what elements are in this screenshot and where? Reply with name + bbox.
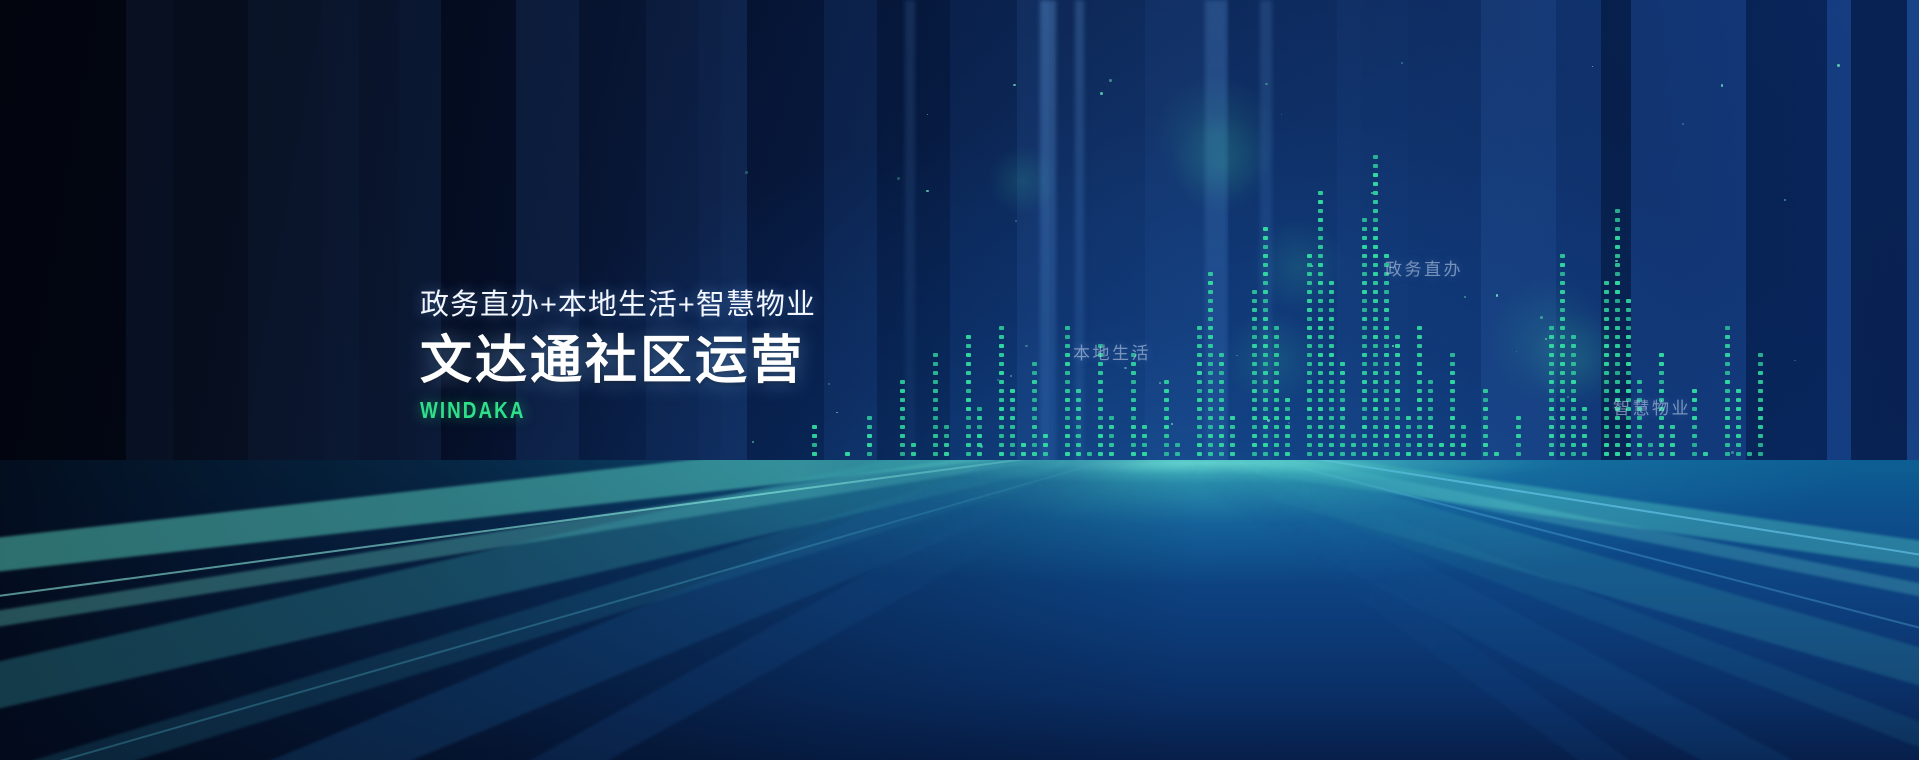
skyline-dot: [1395, 353, 1400, 357]
skyline-dot: [1285, 425, 1290, 429]
skyline-dot: [812, 452, 817, 456]
skyline-dot: [1131, 452, 1136, 456]
skyline-dot: [1615, 263, 1620, 267]
skyline-dot: [1252, 353, 1257, 357]
skyline-dot: [1692, 416, 1697, 420]
skyline-dot: [1560, 416, 1565, 420]
skyline-dot: [1340, 416, 1345, 420]
skyline-dot: [1329, 407, 1334, 411]
skyline-dot: [1318, 443, 1323, 447]
skyline-label-2: 本地生活: [1073, 339, 1151, 364]
skyline-dot: [1615, 371, 1620, 375]
skyline-dot: [1318, 353, 1323, 357]
skyline-dot: [1560, 263, 1565, 267]
skyline-dot: [1758, 389, 1763, 393]
skyline-dot: [1604, 380, 1609, 384]
skyline-dot: [1549, 344, 1554, 348]
skyline-dot: [1208, 326, 1213, 330]
skyline-dot: [1010, 443, 1015, 447]
skyline-dot: [1626, 380, 1631, 384]
skyline-dot: [1373, 362, 1378, 366]
skyline-dot: [1208, 398, 1213, 402]
skyline-dot: [911, 452, 916, 456]
skyline-dot: [1340, 443, 1345, 447]
skyline-dot: [1395, 398, 1400, 402]
skyline-dot: [1560, 335, 1565, 339]
skyline-dot: [966, 389, 971, 393]
skyline-dot: [1362, 371, 1367, 375]
skyline-dot: [1340, 434, 1345, 438]
skyline-dot: [845, 452, 850, 456]
skyline-dot: [867, 443, 872, 447]
skyline-dot: [1373, 227, 1378, 231]
skyline-dot: [1659, 380, 1664, 384]
skyline-dot: [1219, 407, 1224, 411]
skyline-dot: [1274, 326, 1279, 330]
skyline-dot: [1131, 434, 1136, 438]
skyline-dot: [1098, 434, 1103, 438]
skyline-dot: [1340, 362, 1345, 366]
skyline-dot: [1329, 326, 1334, 330]
skyline-dot: [1450, 416, 1455, 420]
skyline-dot: [1615, 299, 1620, 303]
skyline-dot: [1604, 398, 1609, 402]
skyline-dot: [1131, 416, 1136, 420]
skyline-dot: [1604, 281, 1609, 285]
skyline-dot: [1010, 389, 1015, 393]
skyline-dot: [1406, 452, 1411, 456]
skyline-dot: [1076, 434, 1081, 438]
skyline-dot: [1384, 434, 1389, 438]
skyline-dot: [1604, 443, 1609, 447]
skyline-dot: [1373, 155, 1378, 159]
skyline-dot: [1274, 434, 1279, 438]
skyline-dot: [1373, 434, 1378, 438]
skyline-dot: [1483, 425, 1488, 429]
skyline-dot: [1373, 443, 1378, 447]
skyline-dot: [1725, 362, 1730, 366]
skyline-dot: [1571, 443, 1576, 447]
skyline-dot: [1263, 236, 1268, 240]
skyline-dot: [1417, 362, 1422, 366]
skyline-dot: [1065, 389, 1070, 393]
skyline-dot: [1373, 236, 1378, 240]
skyline-dot: [1065, 380, 1070, 384]
skyline-dot: [1417, 407, 1422, 411]
skyline-dot: [1307, 335, 1312, 339]
skyline-dot: [1307, 272, 1312, 276]
skyline-dot: [1736, 398, 1741, 402]
skyline-dot: [1692, 398, 1697, 402]
skyline-dot: [1417, 371, 1422, 375]
skyline-dot: [1362, 227, 1367, 231]
skyline-dot: [1208, 335, 1213, 339]
skyline-dot: [1692, 425, 1697, 429]
skyline-dot: [1351, 452, 1356, 456]
skyline-dot: [1560, 398, 1565, 402]
skyline-dot: [1747, 452, 1752, 456]
skyline-dot: [1417, 326, 1422, 330]
skyline-dot: [1571, 371, 1576, 375]
skyline-dot: [966, 416, 971, 420]
skyline-dot: [1384, 389, 1389, 393]
skyline-dot: [1252, 407, 1257, 411]
skyline-dot: [1604, 317, 1609, 321]
skyline-dot: [1329, 416, 1334, 420]
skyline-dot: [1087, 452, 1092, 456]
skyline-dot: [1758, 398, 1763, 402]
skyline-dot: [1032, 398, 1037, 402]
skyline-dot: [1219, 425, 1224, 429]
skyline-dot: [1318, 362, 1323, 366]
skyline-dot: [1615, 245, 1620, 249]
skyline-dot: [1252, 308, 1257, 312]
skyline-dot: [1659, 425, 1664, 429]
skyline-dot: [1362, 218, 1367, 222]
skyline-dot: [1021, 452, 1026, 456]
skyline-dot: [1340, 371, 1345, 375]
skyline-dot: [1230, 443, 1235, 447]
skyline-dot: [1549, 326, 1554, 330]
skyline-dot: [1516, 416, 1521, 420]
skyline-dot: [1384, 335, 1389, 339]
skyline-dot: [1252, 434, 1257, 438]
skyline-dot: [1318, 380, 1323, 384]
skyline-dot: [977, 443, 982, 447]
skyline-dot: [1725, 443, 1730, 447]
skyline-dot: [1384, 362, 1389, 366]
skyline-dot: [1329, 398, 1334, 402]
skyline-dot: [1065, 371, 1070, 375]
skyline-dot: [1010, 398, 1015, 402]
skyline-dot: [1065, 335, 1070, 339]
skyline-dot: [900, 425, 905, 429]
skyline-dot: [1615, 425, 1620, 429]
skyline-dot: [1197, 389, 1202, 393]
skyline-dot: [1307, 398, 1312, 402]
skyline-dot: [1692, 434, 1697, 438]
skyline-dot: [933, 443, 938, 447]
skyline-dot: [1318, 209, 1323, 213]
skyline-dot: [1208, 317, 1213, 321]
skyline-dot: [1219, 371, 1224, 375]
skyline-dot: [1318, 389, 1323, 393]
skyline-dot: [1373, 389, 1378, 393]
skyline-dot: [1670, 443, 1675, 447]
skyline-dot: [1758, 434, 1763, 438]
skyline-dot: [1615, 218, 1620, 222]
skyline-dot: [1362, 380, 1367, 384]
skyline-dot: [1098, 443, 1103, 447]
skyline-dot: [1384, 299, 1389, 303]
headline-block: 政务直办+本地生活+智慧物业 文达通社区运营 WINDAKA: [420, 290, 816, 422]
skyline-dot: [1043, 443, 1048, 447]
skyline-dot: [1274, 407, 1279, 411]
skyline-dot: [1560, 353, 1565, 357]
skyline-dot: [1197, 398, 1202, 402]
skyline-dot: [1659, 452, 1664, 456]
skyline-dot: [933, 353, 938, 357]
skyline-dot: [1604, 416, 1609, 420]
skyline-dot: [1406, 443, 1411, 447]
skyline-dot: [1263, 326, 1268, 330]
skyline-dot: [1461, 425, 1466, 429]
skyline-dot: [1329, 434, 1334, 438]
skyline-dot: [1758, 452, 1763, 456]
skyline-dot: [1032, 443, 1037, 447]
skyline-dot: [1626, 425, 1631, 429]
skyline-dot: [1285, 434, 1290, 438]
skyline-dot: [1560, 407, 1565, 411]
skyline-dot: [1362, 353, 1367, 357]
skyline-dot: [1692, 407, 1697, 411]
skyline-dot: [1373, 380, 1378, 384]
skyline-dot: [1659, 353, 1664, 357]
skyline-dot: [1406, 425, 1411, 429]
skyline-dot: [1516, 434, 1521, 438]
skyline-dot: [1615, 290, 1620, 294]
skyline-dot: [977, 425, 982, 429]
skyline-dot: [1318, 434, 1323, 438]
skyline-dot: [1109, 443, 1114, 447]
skyline-dot: [1450, 452, 1455, 456]
skyline-dot: [1450, 380, 1455, 384]
skyline-dot: [1362, 398, 1367, 402]
skyline-dot: [1175, 452, 1180, 456]
skyline-dot: [1318, 263, 1323, 267]
skyline-dot: [1318, 236, 1323, 240]
skyline-dot: [1560, 299, 1565, 303]
skyline-dot: [1417, 443, 1422, 447]
skyline-dot: [1560, 272, 1565, 276]
skyline-dot: [1626, 362, 1631, 366]
skyline-dot: [1340, 407, 1345, 411]
skyline-dot: [1637, 452, 1642, 456]
skyline-dot: [1131, 443, 1136, 447]
skyline-dot: [1516, 425, 1521, 429]
skyline-dot: [1208, 443, 1213, 447]
skyline-dot: [1362, 416, 1367, 420]
skyline-dot: [999, 398, 1004, 402]
skyline-dot: [1329, 362, 1334, 366]
skyline-dot: [1263, 407, 1268, 411]
skyline-dot: [977, 416, 982, 420]
skyline-dot: [1263, 308, 1268, 312]
skyline-dot: [1549, 389, 1554, 393]
skyline-dot: [1582, 452, 1587, 456]
skyline-dot: [1626, 326, 1631, 330]
skyline-dot: [1549, 425, 1554, 429]
skyline-dot: [1098, 407, 1103, 411]
skyline-dot: [1362, 452, 1367, 456]
skyline-dot: [1252, 398, 1257, 402]
skyline-dot: [1329, 452, 1334, 456]
skyline-dot: [1098, 416, 1103, 420]
skyline-dot: [1516, 452, 1521, 456]
skyline-dot: [1571, 425, 1576, 429]
skyline-dot: [1263, 416, 1268, 420]
skyline-dot: [1164, 425, 1169, 429]
skyline-dot: [933, 362, 938, 366]
skyline-dot: [1032, 416, 1037, 420]
skyline-dot: [1263, 317, 1268, 321]
skyline-dot: [1230, 425, 1235, 429]
skyline-dot: [1428, 398, 1433, 402]
skyline-dot: [1252, 443, 1257, 447]
skyline-dot: [1263, 281, 1268, 285]
skyline-dot: [1637, 434, 1642, 438]
skyline-dot: [1263, 362, 1268, 366]
skyline-dot: [1362, 389, 1367, 393]
skyline-dot: [1615, 452, 1620, 456]
skyline-dot: [1626, 317, 1631, 321]
skyline-dot: [1208, 308, 1213, 312]
skyline-dot: [1307, 371, 1312, 375]
skyline-dot: [1736, 407, 1741, 411]
skyline-dot: [1417, 416, 1422, 420]
skyline-dot: [1428, 407, 1433, 411]
skyline-dot: [1373, 353, 1378, 357]
skyline-dot: [1329, 281, 1334, 285]
skyline-dot: [1626, 371, 1631, 375]
skyline-dot: [944, 443, 949, 447]
skyline-dot: [1384, 326, 1389, 330]
skyline-dot: [1318, 281, 1323, 285]
skyline-dot: [1659, 434, 1664, 438]
skyline-dot: [999, 371, 1004, 375]
skyline-dot: [999, 326, 1004, 330]
skyline-dot: [1263, 398, 1268, 402]
skyline-dot: [1450, 443, 1455, 447]
skyline-dot: [1373, 245, 1378, 249]
skyline-dot: [1736, 416, 1741, 420]
skyline-dot: [944, 452, 949, 456]
skyline-dot: [1318, 326, 1323, 330]
skyline-dot: [999, 416, 1004, 420]
skyline-dot: [1098, 425, 1103, 429]
skyline-dot: [1384, 353, 1389, 357]
skyline-dot: [1263, 290, 1268, 294]
skyline-dot: [1274, 371, 1279, 375]
skyline-dot: [1395, 434, 1400, 438]
skyline-dot: [1549, 362, 1554, 366]
banner-headline: 文达通社区运营: [420, 332, 816, 390]
skyline-dot: [1725, 434, 1730, 438]
skyline-dot: [1021, 443, 1026, 447]
skyline-dot: [1230, 434, 1235, 438]
skyline-dot: [966, 335, 971, 339]
skyline-dot: [1362, 236, 1367, 240]
skyline-dot: [1659, 389, 1664, 393]
skyline-dot: [1604, 434, 1609, 438]
skyline-dot: [867, 416, 872, 420]
skyline-dot: [1615, 209, 1620, 213]
skyline-dot: [1208, 407, 1213, 411]
skyline-dot: [933, 398, 938, 402]
skyline-dot: [900, 452, 905, 456]
skyline-dot: [1648, 452, 1653, 456]
banner-subtitle: 政务直办+本地生活+智慧物业: [420, 290, 816, 322]
skyline-dot: [1637, 389, 1642, 393]
skyline-dot: [999, 443, 1004, 447]
skyline-dot: [1373, 272, 1378, 276]
perspective-floor: [0, 460, 1919, 760]
skyline-dot: [1373, 281, 1378, 285]
skyline-dot: [1560, 344, 1565, 348]
skyline-dot: [1373, 335, 1378, 339]
skyline-dot: [1362, 443, 1367, 447]
skyline-dot: [1164, 389, 1169, 393]
skyline-dot: [900, 443, 905, 447]
skyline-dot: [1439, 452, 1444, 456]
skyline-dot: [1252, 371, 1257, 375]
hero-banner: 政务直办本地生活智慧物业 政务直办+本地生活+智慧物业 文达通社区运营 WIND…: [0, 0, 1919, 760]
skyline-dot: [1637, 443, 1642, 447]
skyline-dot: [1307, 434, 1312, 438]
skyline-dot: [1571, 407, 1576, 411]
skyline-dot: [1252, 389, 1257, 393]
skyline-dot: [1065, 398, 1070, 402]
skyline-dot: [1670, 434, 1675, 438]
skyline-dot: [1307, 353, 1312, 357]
skyline-dot: [1384, 425, 1389, 429]
skyline-dot: [1615, 272, 1620, 276]
skyline-dot: [1362, 407, 1367, 411]
skyline-dot: [1131, 398, 1136, 402]
skyline-dot: [1560, 308, 1565, 312]
skyline-dot: [933, 371, 938, 375]
skyline-dot: [1417, 380, 1422, 384]
skyline-dot: [812, 443, 817, 447]
skyline-dot: [1373, 452, 1378, 456]
skyline-dot: [1582, 443, 1587, 447]
skyline-dot: [1208, 416, 1213, 420]
skyline-dot: [1362, 326, 1367, 330]
skyline-dot: [1032, 434, 1037, 438]
skyline-dot: [1274, 362, 1279, 366]
skyline-dot: [1549, 380, 1554, 384]
skyline-dot: [1252, 344, 1257, 348]
skyline-dot: [1384, 281, 1389, 285]
skyline-dot: [1285, 452, 1290, 456]
skyline-dot: [1626, 299, 1631, 303]
skyline-dot: [1725, 335, 1730, 339]
skyline-dot: [1109, 416, 1114, 420]
skyline-dot: [1428, 443, 1433, 447]
skyline-dot: [1219, 380, 1224, 384]
skyline-dot: [999, 380, 1004, 384]
skyline-dot: [1274, 443, 1279, 447]
skyline-dot: [1307, 443, 1312, 447]
skyline-dot: [1450, 371, 1455, 375]
skyline-dot: [1560, 326, 1565, 330]
skyline-dot: [1285, 398, 1290, 402]
skyline-dot: [1758, 416, 1763, 420]
skyline-dot: [1263, 299, 1268, 303]
skyline-dot: [1395, 380, 1400, 384]
skyline-dot: [966, 425, 971, 429]
skyline-dot: [1362, 299, 1367, 303]
skyline-dot: [1109, 425, 1114, 429]
skyline-dot: [1758, 443, 1763, 447]
skyline-dot: [933, 389, 938, 393]
skyline-dot: [1307, 452, 1312, 456]
skyline-dot: [1032, 452, 1037, 456]
skyline-dot: [867, 434, 872, 438]
skyline-dot: [1725, 344, 1730, 348]
skyline-dot: [1725, 389, 1730, 393]
skyline-dot: [944, 434, 949, 438]
